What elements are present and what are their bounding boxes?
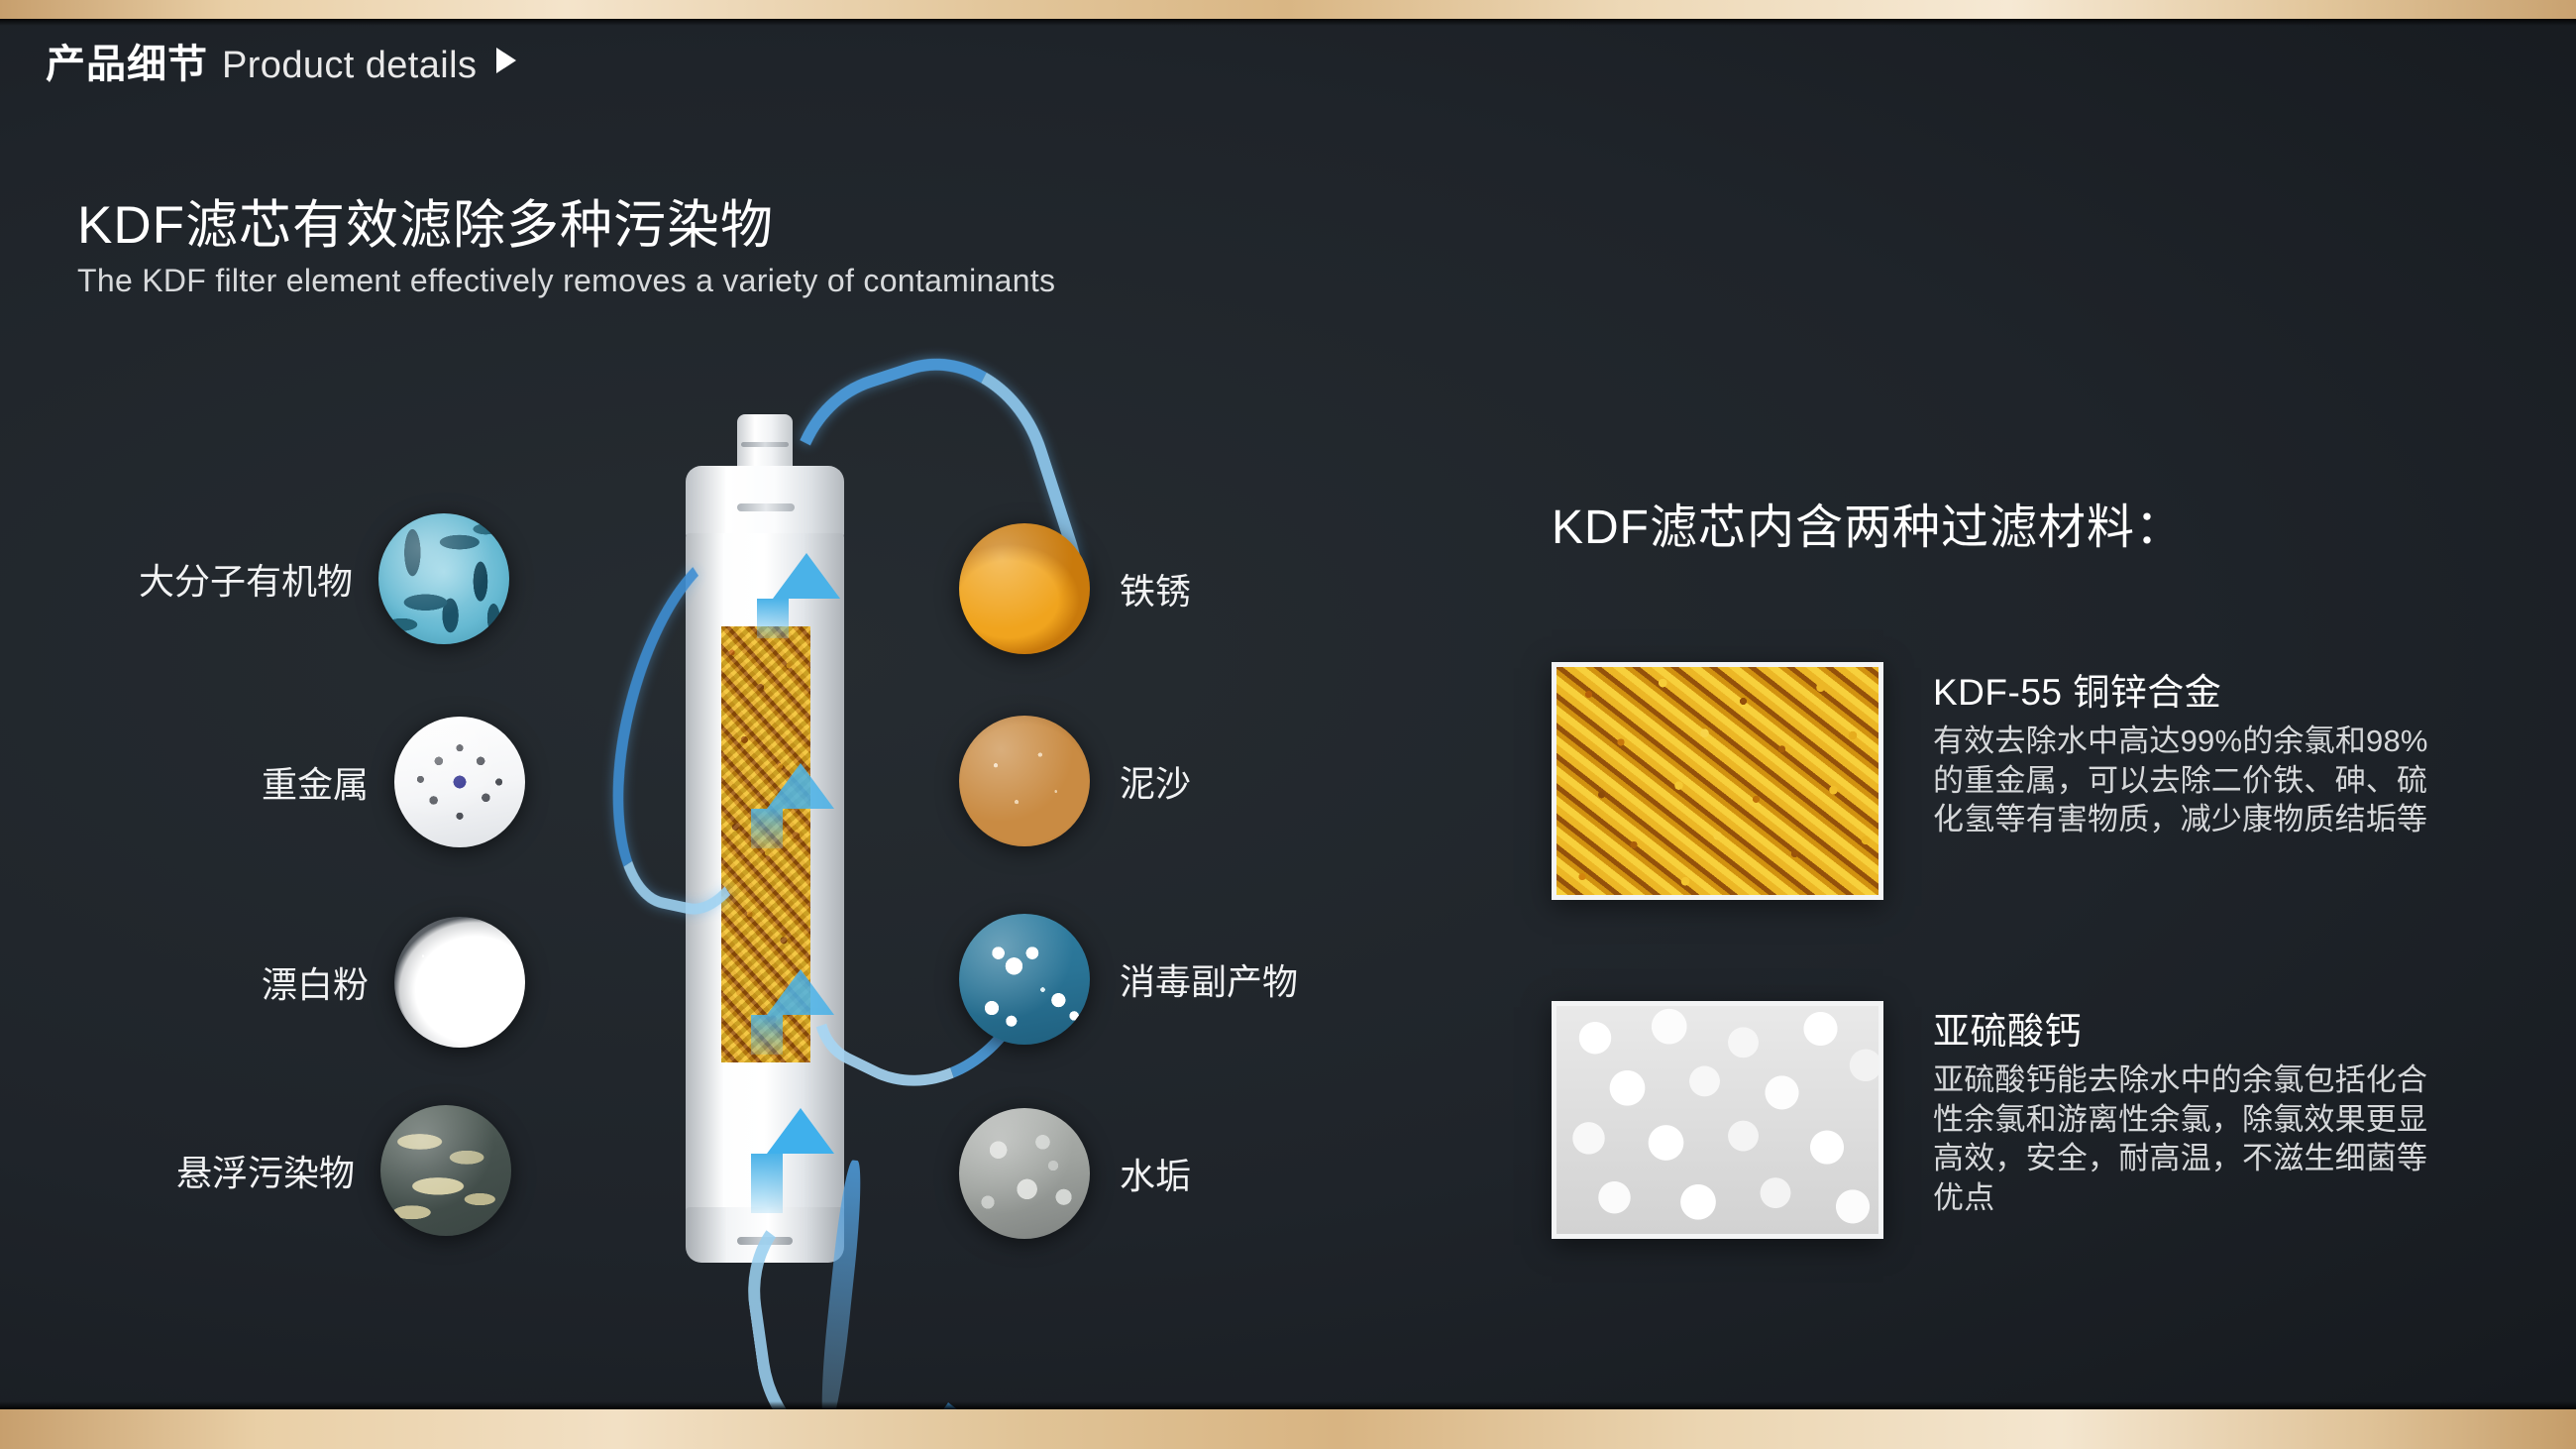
silt-sediment-icon — [959, 716, 1090, 846]
contaminant-item-left-3: 悬浮污染物 — [176, 1105, 511, 1236]
contaminant-label: 铁锈 — [1120, 563, 1191, 614]
page-subtitle: The KDF filter element effectively remov… — [77, 263, 1055, 299]
contaminant-item-left-0: 大分子有机物 — [139, 513, 509, 644]
play-triangle-right-icon — [496, 48, 516, 73]
contaminant-label: 消毒副产物 — [1120, 953, 1298, 1005]
material-card-0: KDF-55 铜锌合金 有效去除水中高达99%的余氯和98%的重金属，可以去除二… — [1552, 662, 2448, 900]
contaminant-label: 漂白粉 — [262, 956, 369, 1008]
page-title: KDF滤芯有效滤除多种污染物 — [77, 183, 774, 259]
cartridge-base — [686, 1207, 844, 1263]
calcium-sulfite-pellets-photo — [1552, 1001, 1883, 1239]
contaminant-label: 泥沙 — [1120, 755, 1191, 807]
header-title-cn: 产品细节 — [46, 32, 208, 89]
contaminant-label: 重金属 — [262, 756, 369, 808]
material-description: 有效去除水中高达99%的余氯和98%的重金属，可以去除二价铁、砷、硫化氢等有害物… — [1933, 722, 2448, 839]
contaminant-item-right-3: 水垢 — [959, 1108, 1191, 1239]
contaminant-item-left-2: 漂白粉 — [262, 917, 525, 1048]
contaminant-label: 大分子有机物 — [139, 553, 353, 605]
header-title-en: Product details — [222, 45, 477, 87]
top-gold-divider — [0, 0, 2576, 19]
disinfection-byproducts-icon — [959, 914, 1090, 1045]
filter-materials-title: KDF滤芯内含两种过滤材料： — [1552, 488, 2184, 557]
contaminant-item-right-1: 泥沙 — [959, 716, 1191, 846]
kdf55-copper-zinc-granules-photo — [1552, 662, 1883, 900]
kdf-filter-cartridge-cutaway — [678, 414, 852, 1286]
cartridge-cap — [737, 414, 793, 472]
iron-rust-icon — [959, 523, 1090, 654]
cartridge-shoulder — [686, 466, 844, 539]
contaminant-item-right-2: 消毒副产物 — [959, 914, 1298, 1045]
contaminant-item-left-1: 重金属 — [262, 717, 525, 847]
section-header: 产品细节 Product details — [46, 32, 516, 89]
bleaching-powder-icon — [394, 917, 525, 1048]
material-name: KDF-55 铜锌合金 — [1933, 662, 2448, 716]
bottom-gold-divider — [0, 1409, 2576, 1449]
product-detail-page: 产品细节 Product details KDF滤芯有效滤除多种污染物 The … — [0, 0, 2576, 1449]
material-card-1: 亚硫酸钙 亚硫酸钙能去除水中的余氯包括化合性余氯和游离性余氯，除氯效果更显高效，… — [1552, 1001, 2448, 1239]
material-description: 亚硫酸钙能去除水中的余氯包括化合性余氯和游离性余氯，除氯效果更显高效，安全，耐高… — [1933, 1060, 2448, 1218]
contaminant-label: 悬浮污染物 — [176, 1145, 355, 1196]
contaminant-label: 水垢 — [1120, 1148, 1191, 1199]
limescale-icon — [959, 1108, 1090, 1239]
macro-organics-icon — [378, 513, 509, 644]
material-name: 亚硫酸钙 — [1933, 1001, 2448, 1055]
heavy-metals-icon — [394, 717, 525, 847]
suspended-pollutants-icon — [380, 1105, 511, 1236]
contaminant-item-right-0: 铁锈 — [959, 523, 1191, 654]
